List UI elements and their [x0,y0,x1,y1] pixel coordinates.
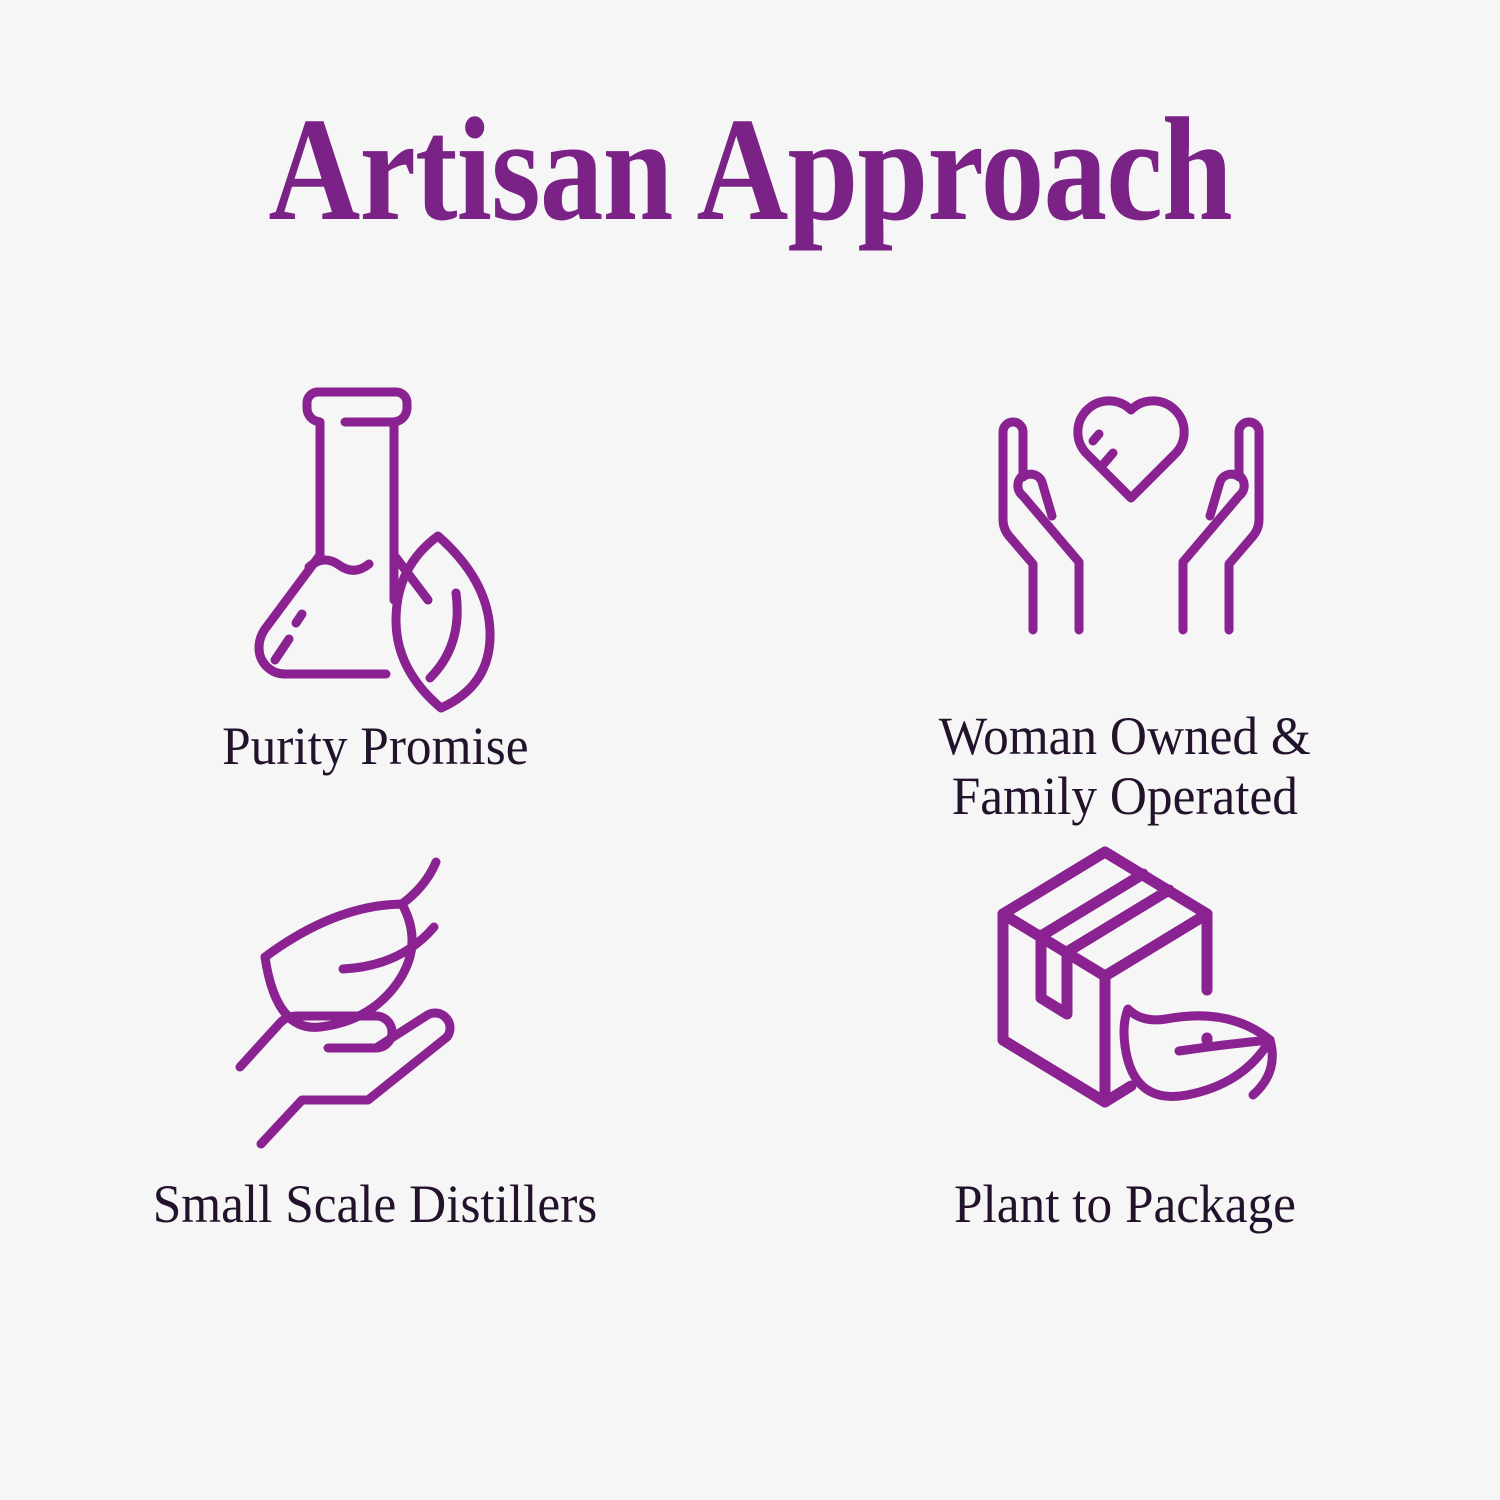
feature-item-woman-owned: Woman Owned & Family Operated [750,360,1500,840]
box-leaf-icon [995,848,1295,1110]
box-leaf-icon-container [995,848,1295,1108]
feature-label-plant-to-package: Plant to Package [954,1174,1296,1234]
feature-grid: Purity Promise [0,360,1500,1300]
flask-leaf-icon [242,376,504,666]
feature-label-purity-promise: Purity Promise [222,716,528,776]
flask-leaf-icon-container [242,376,504,676]
leaf-in-hand-icon [230,854,480,1116]
hands-holding-heart-icon [981,382,1281,638]
page-title-container: Artisan Approach [0,96,1500,244]
feature-item-purity-promise: Purity Promise [0,360,750,840]
feature-label-small-scale-distillers: Small Scale Distillers [153,1174,598,1234]
leaf-in-hand-icon-container [230,854,480,1114]
feature-item-small-scale-distillers: Small Scale Distillers [0,840,750,1300]
artisan-approach-panel: Artisan Approach [0,0,1500,1500]
page-title: Artisan Approach [268,96,1231,244]
feature-label-woman-owned: Woman Owned & Family Operated [939,706,1311,827]
feature-item-plant-to-package: Plant to Package [750,840,1500,1300]
hands-holding-heart-icon-container [981,382,1281,682]
